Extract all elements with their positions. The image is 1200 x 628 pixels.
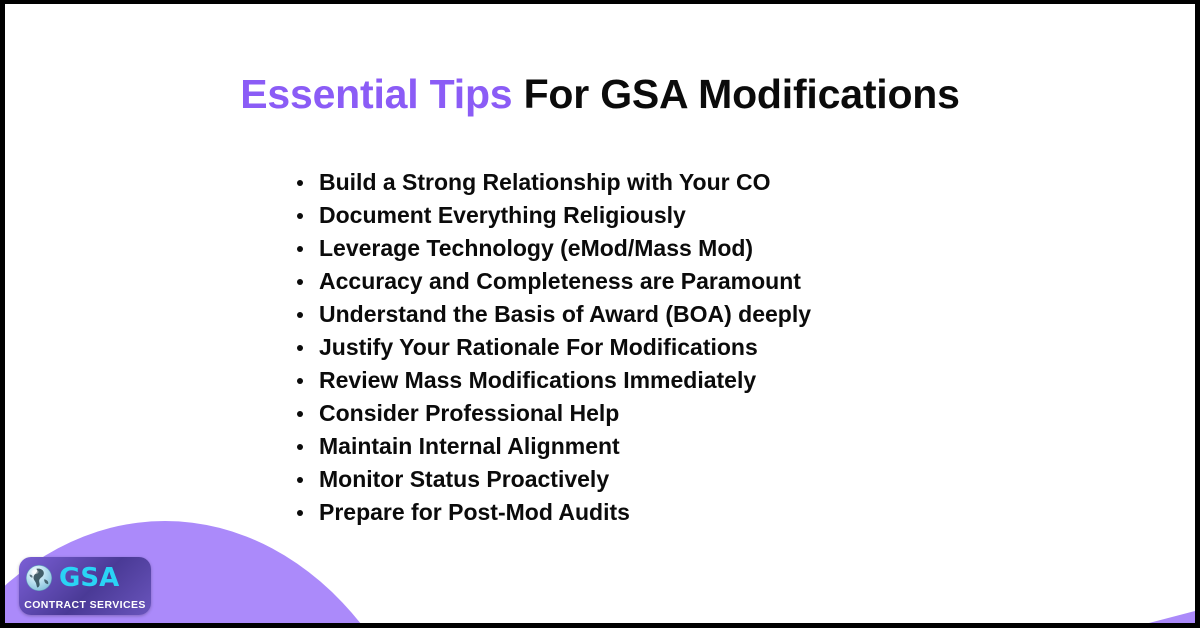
list-item-label: Build a Strong Relationship with Your CO	[319, 169, 771, 195]
list-item-label: Leverage Technology (eMod/Mass Mod)	[319, 235, 753, 261]
list-item: Monitor Status Proactively	[297, 463, 811, 496]
bullet-dot-icon	[297, 444, 303, 450]
list-item-label: Maintain Internal Alignment	[319, 433, 620, 459]
logo-brand-text: GSA	[59, 565, 119, 591]
list-item-label: Accuracy and Completeness are Paramount	[319, 268, 801, 294]
list-item: Review Mass Modifications Immediately	[297, 364, 811, 397]
page-title: Essential Tips For GSA Modifications	[5, 71, 1195, 118]
list-item: Understand the Basis of Award (BOA) deep…	[297, 298, 811, 331]
bullet-dot-icon	[297, 246, 303, 252]
list-item: Leverage Technology (eMod/Mass Mod)	[297, 232, 811, 265]
bullet-dot-icon	[297, 477, 303, 483]
slide-root: Essential Tips For GSA Modifications Bui…	[0, 0, 1200, 628]
bullet-dot-icon	[297, 510, 303, 516]
list-item-label: Review Mass Modifications Immediately	[319, 367, 756, 393]
list-item: Build a Strong Relationship with Your CO	[297, 166, 811, 199]
list-item: Consider Professional Help	[297, 397, 811, 430]
list-item-label: Monitor Status Proactively	[319, 466, 609, 492]
decorative-purple-corner-sliver	[1149, 611, 1195, 623]
list-item-label: Justify Your Rationale For Modifications	[319, 334, 758, 360]
list-item-label: Document Everything Religiously	[319, 202, 686, 228]
list-item: Maintain Internal Alignment	[297, 430, 811, 463]
list-item: Justify Your Rationale For Modifications	[297, 331, 811, 364]
list-item-label: Consider Professional Help	[319, 400, 619, 426]
logo-tagline: CONTRACT SERVICES	[19, 600, 151, 611]
logo-primary-row: GSA	[25, 562, 145, 594]
list-item: Accuracy and Completeness are Paramount	[297, 265, 811, 298]
bullet-dot-icon	[297, 312, 303, 318]
page-title-accent: Essential Tips	[240, 71, 512, 117]
bullet-dot-icon	[297, 378, 303, 384]
list-item: Document Everything Religiously	[297, 199, 811, 232]
slide-canvas: Essential Tips For GSA Modifications Bui…	[5, 4, 1195, 623]
bullet-dot-icon	[297, 213, 303, 219]
bullet-dot-icon	[297, 411, 303, 417]
list-item: Prepare for Post-Mod Audits	[297, 496, 811, 529]
list-item-label: Prepare for Post-Mod Audits	[319, 499, 630, 525]
tips-list: Build a Strong Relationship with Your CO…	[297, 166, 811, 529]
list-item-label: Understand the Basis of Award (BOA) deep…	[319, 301, 811, 327]
page-title-rest: For GSA Modifications	[512, 71, 959, 117]
bullet-dot-icon	[297, 180, 303, 186]
globe-icon	[25, 564, 53, 592]
logo-badge: GSA CONTRACT SERVICES	[19, 557, 151, 615]
bullet-dot-icon	[297, 345, 303, 351]
bullet-dot-icon	[297, 279, 303, 285]
